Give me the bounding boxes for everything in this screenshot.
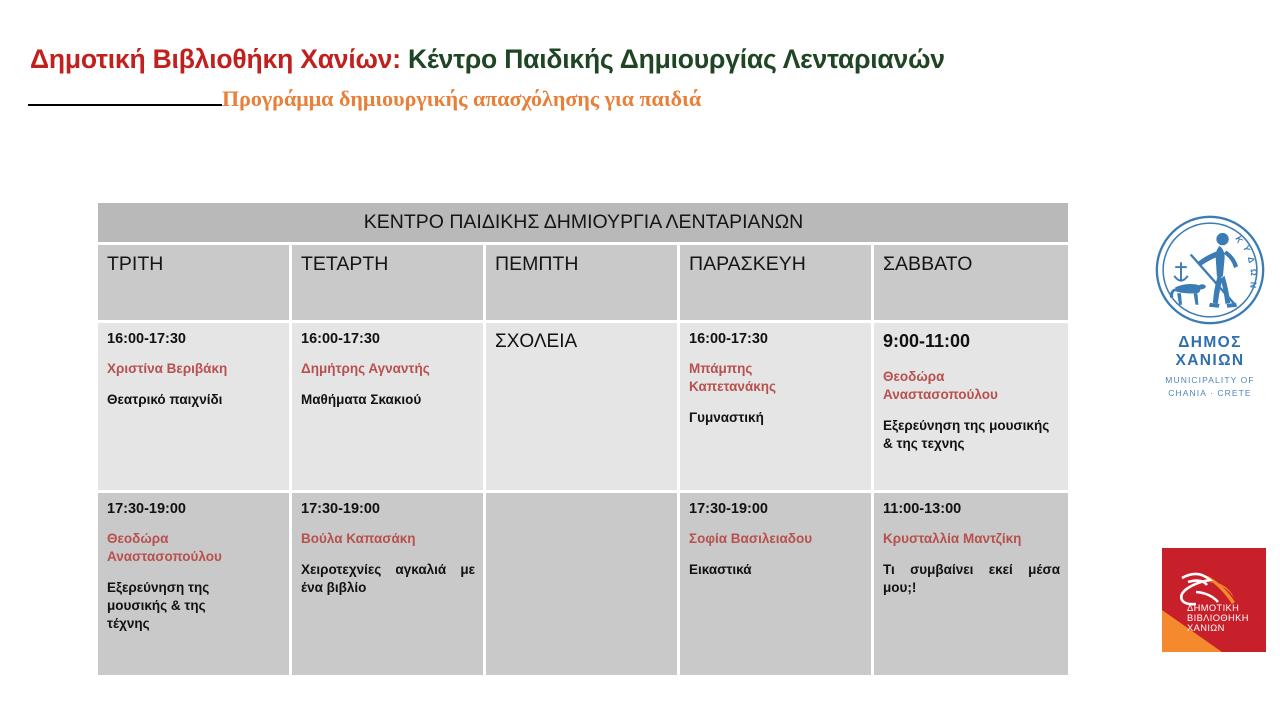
slot-time: 17:30-19:00 [107, 501, 281, 517]
seal-inscription-letter: Κ [1233, 234, 1245, 245]
municipality-subtitle-line2: CHANIA · CRETE [1152, 387, 1268, 400]
main-title-part-red: Δημοτική Βιβλιοθήκη Χανίων: [30, 44, 401, 74]
municipality-logo: Κ Υ Δ Ω Ν ΔΗΜΟΣ ΧΑΝΙΩΝ MUNICIPALITY OF C… [1152, 212, 1268, 417]
cell-sat-slot1: 9:00-11:00 Θεοδώρα Αναστασοπούλου Εξερεύ… [874, 323, 1068, 493]
cell-thu-slot2 [486, 493, 680, 675]
column-header-thu: ΠΕΜΠΤΗ [486, 245, 680, 323]
column-header-tue: ΤΡΙΤΗ [98, 245, 292, 323]
cell-fri-slot1: 16:00-17:30 Μπάμπης Καπετανάκης Γυμναστι… [680, 323, 874, 493]
library-name-line1: ΔΗΜΟΤΙΚΗ [1187, 603, 1239, 613]
slot-teacher: Σοφία Βασιλειαδου [689, 530, 863, 548]
cell-sat-slot2: 11:00-13:00 Κρυσταλλία Μαντζίκη Τι συμβα… [874, 493, 1068, 675]
seal-inscription-letter: Ω [1249, 268, 1259, 276]
cell-wed-slot1: 16:00-17:30 Δημήτρης Αγναντής Μαθήματα Σ… [292, 323, 486, 493]
seal-inscription-letter: Δ [1246, 256, 1257, 264]
slot-activity: Μαθήματα Σκακιού [301, 391, 475, 409]
table-row: 16:00-17:30 Χριστίνα Βεριβάκη Θεατρικό π… [98, 323, 1068, 493]
table-header-row: ΤΡΙΤΗ ΤΕΤΑΡΤΗ ΠΕΜΠΤΗ ΠΑΡΑΣΚΕΥΗ ΣΑΒΒΑΤΟ [98, 245, 1068, 323]
slot-teacher: Βούλα Καπασάκη [301, 530, 475, 548]
slot-time: 17:30-19:00 [689, 501, 863, 517]
slot-teacher: Χριστίνα Βεριβάκη [107, 360, 281, 378]
municipality-subtitle-line1: MUNICIPALITY OF [1152, 374, 1268, 387]
cell-wed-slot2: 17:30-19:00 Βούλα Καπασάκη Χειροτεχνίες … [292, 493, 486, 675]
slot-note: ΣΧΟΛΕΙΑ [495, 331, 669, 353]
municipality-subtitle: MUNICIPALITY OF CHANIA · CRETE [1152, 374, 1268, 400]
library-name-line2: ΒΙΒΛΙΟΘΗΚΗ [1187, 613, 1249, 623]
column-header-wed: ΤΕΤΑΡΤΗ [292, 245, 486, 323]
slot-activity: Γυμναστική [689, 409, 863, 427]
library-logo-icon: ΔΗΜΟΤΙΚΗ ΒΙΒΛΙΟΘΗΚΗ ΧΑΝΙΩΝ [1162, 548, 1266, 652]
slot-teacher: Δημήτρης Αγναντής [301, 360, 475, 378]
schedule-table: ΚΕΝΤΡΟ ΠΑΙΔΙΚΗΣ ΔΗΜΙΟΥΡΓΙΑ ΛΕΝΤΑΡΙΑΝΩΝ Τ… [98, 203, 1068, 675]
slot-time: 9:00-11:00 [883, 331, 1060, 352]
slot-activity: Εικαστικά [689, 561, 863, 579]
library-name-line3: ΧΑΝΙΩΝ [1187, 623, 1225, 633]
slot-teacher: Θεοδώρα Αναστασοπούλου [107, 530, 219, 566]
slot-time: 16:00-17:30 [107, 331, 281, 347]
slot-teacher: Μπάμπης Καπετανάκης [689, 360, 799, 396]
cell-tue-slot2: 17:30-19:00 Θεοδώρα Αναστασοπούλου Εξερε… [98, 493, 292, 675]
seal-inscription-letter: Ν [1248, 281, 1258, 288]
slot-teacher: Κρυσταλλία Μαντζίκη [883, 530, 1060, 548]
title-underline-rule [28, 104, 222, 106]
slot-activity: Εξερεύνηση της μουσικής & της τέχνης [107, 579, 227, 633]
main-title-part-green: Κέντρο Παιδικής Δημιουργίας Λενταριανών [401, 44, 945, 74]
table-caption-cell: ΚΕΝΤΡΟ ΠΑΙΔΙΚΗΣ ΔΗΜΙΟΥΡΓΙΑ ΛΕΝΤΑΡΙΑΝΩΝ [98, 203, 1068, 245]
main-title-line: Δημοτική Βιβλιοθήκη Χανίων: Κέντρο Παιδι… [30, 44, 1200, 74]
slot-teacher: Θεοδώρα Αναστασοπούλου [883, 368, 1013, 404]
municipality-name-line2: ΧΑΝΙΩΝ [1152, 352, 1268, 370]
table-caption-row: ΚΕΝΤΡΟ ΠΑΙΔΙΚΗΣ ΔΗΜΙΟΥΡΓΙΑ ΛΕΝΤΑΡΙΑΝΩΝ [98, 203, 1068, 245]
cell-fri-slot2: 17:30-19:00 Σοφία Βασιλειαδου Εικαστικά [680, 493, 874, 675]
slot-time: 16:00-17:30 [689, 331, 863, 347]
municipality-name: ΔΗΜΟΣ ΧΑΝΙΩΝ [1152, 334, 1268, 370]
slot-time: 16:00-17:30 [301, 331, 475, 347]
slot-activity: Τι συμβαίνει εκεί μέσα μου;! [883, 561, 1060, 597]
kydon-seal-icon: Κ Υ Δ Ω Ν [1152, 212, 1268, 328]
page-title: Δημοτική Βιβλιοθήκη Χανίων: Κέντρο Παιδι… [30, 44, 1200, 74]
seal-inscription-letter: Υ [1241, 244, 1252, 253]
slide-canvas: Δημοτική Βιβλιοθήκη Χανίων: Κέντρο Παιδι… [0, 0, 1280, 720]
library-logo: ΔΗΜΟΤΙΚΗ ΒΙΒΛΙΟΘΗΚΗ ΧΑΝΙΩΝ [1162, 548, 1266, 652]
slot-activity: Εξερεύνηση της μουσικής & της τεχνης [883, 417, 1060, 453]
slot-activity: Θεατρικό παιχνίδι [107, 391, 281, 409]
table-row: 17:30-19:00 Θεοδώρα Αναστασοπούλου Εξερε… [98, 493, 1068, 675]
column-header-sat: ΣΑΒΒΑΤΟ [874, 245, 1068, 323]
slot-time: 17:30-19:00 [301, 501, 475, 517]
slot-activity: Χειροτεχνίες αγκαλιά με ένα βιβλίο [301, 561, 475, 597]
column-header-fri: ΠΑΡΑΣΚΕΥΗ [680, 245, 874, 323]
cell-thu-slot1: ΣΧΟΛΕΙΑ [486, 323, 680, 493]
page-subtitle: Προγράμμα δημιουργικής απασχόλησης για π… [222, 86, 701, 112]
municipality-name-line1: ΔΗΜΟΣ [1152, 334, 1268, 352]
slot-time: 11:00-13:00 [883, 501, 1060, 517]
cell-tue-slot1: 16:00-17:30 Χριστίνα Βεριβάκη Θεατρικό π… [98, 323, 292, 493]
